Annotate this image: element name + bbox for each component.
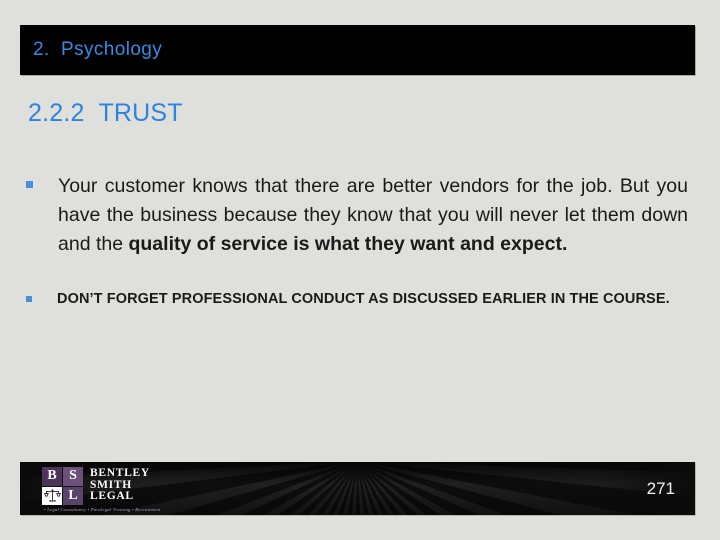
logo-letter-l: L [63,487,83,506]
header-band: 2. Psychology [20,25,695,75]
logo-monogram: B S [42,467,83,505]
logo-letter-s: S [63,467,83,486]
logo-wordmark: BENTLEY SMITH LEGAL [90,468,150,503]
square-bullet-icon [26,296,32,302]
company-logo: B S [42,467,150,505]
logo-letter-b: B [42,467,62,486]
content-body: Your customer knows that there are bette… [26,172,688,309]
footer-band: B S [20,462,695,515]
list-item: Your customer knows that there are bette… [26,172,688,259]
bullet-text-primary: Your customer knows that there are bette… [58,172,688,259]
page-number: 271 [647,479,675,499]
scales-of-justice-icon [42,487,62,506]
square-bullet-icon [26,181,33,188]
logo-word-bentley: BENTLEY [90,468,150,480]
page-title: 2.2.2 TRUST [28,99,183,128]
header-title: 2. Psychology [33,39,162,61]
logo-tagline: • Legal Consultancy • Paralegal Training… [44,507,160,512]
list-item: DON’T FORGET PROFESSIONAL CONDUCT AS DIS… [26,289,688,309]
bullet-text-secondary: DON’T FORGET PROFESSIONAL CONDUCT AS DIS… [57,289,688,309]
slide-canvas: 2. Psychology 2.2.2 TRUST Your customer … [0,0,720,540]
logo-word-legal: LEGAL [90,491,150,503]
bullet-segment-bold: quality of service is what they want and… [128,233,567,255]
